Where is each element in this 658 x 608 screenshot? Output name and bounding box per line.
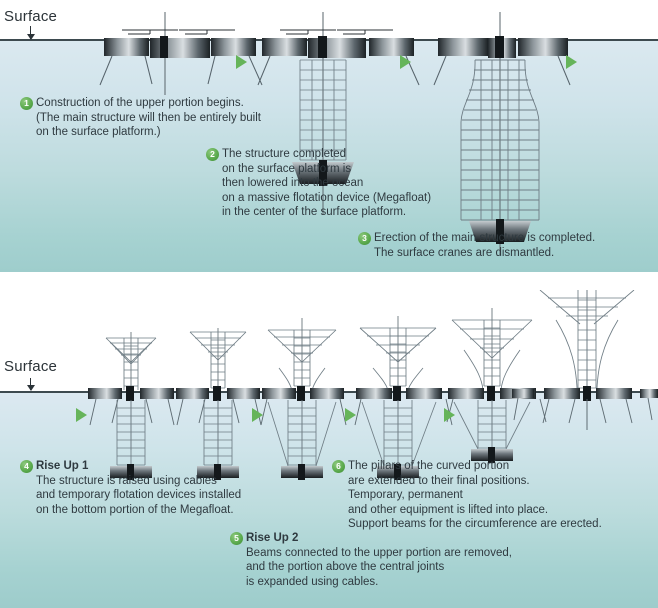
step-6-line-3: Temporary, permanent: [348, 489, 463, 501]
step-4-title: Rise Up 1: [36, 460, 88, 472]
flow-arrow-7: [444, 408, 455, 422]
step-badge-4: 4: [20, 460, 33, 473]
step-2-line-1: The structure completed: [222, 148, 346, 160]
step-2-line-2: on the surface platform is: [222, 163, 351, 175]
step-6-line-2: are extended to their final positions.: [348, 475, 530, 487]
step-badge-6: 6: [332, 460, 345, 473]
step-4-line-1: The structure is raised using cables: [36, 475, 217, 487]
step-badge-5: 5: [230, 532, 243, 545]
step-5-line-1: Beams connected to the upper portion are…: [246, 547, 512, 559]
stage-4-structure: [88, 332, 174, 480]
step-2-line-5: in the center of the surface platform.: [222, 206, 406, 218]
stage-6a-structure: [261, 318, 346, 480]
step-3-line-1: Erection of the main structure is comple…: [374, 232, 595, 244]
step-2-line-3: then lowered into the ocean: [222, 177, 363, 189]
step-6-line-5: Support beams for the circumference are …: [348, 518, 602, 530]
step-caption-4: Rise Up 1 The structure is raised using …: [36, 459, 241, 517]
step-badge-1: 1: [20, 97, 33, 110]
step-caption-6: The pillars of the curved portion are ex…: [348, 459, 602, 532]
stage-6d-structure: [512, 290, 658, 430]
stage-6c-structure: [447, 308, 546, 463]
flow-arrow-2: [400, 55, 411, 69]
diagram-panel-bottom: Surface: [0, 290, 658, 608]
step-caption-1: Construction of the upper portion begins…: [36, 96, 261, 140]
step-caption-2: The structure completed on the surface p…: [222, 147, 431, 220]
step-badge-3: 3: [358, 232, 371, 245]
diagram-panel-top: Surface: [0, 0, 658, 272]
step-4-line-3: on the bottom portion of the Megafloat.: [36, 504, 234, 516]
step-4-line-2: and temporary flotation devices installe…: [36, 489, 241, 501]
step-badge-2: 2: [206, 148, 219, 161]
flow-arrow-4: [76, 408, 87, 422]
step-caption-5: Rise Up 2 Beams connected to the upper p…: [246, 531, 512, 589]
step-5-line-3: is expanded using cables.: [246, 576, 378, 588]
step-6-line-1: The pillars of the curved portion: [348, 460, 509, 472]
step-caption-3: Erection of the main structure is comple…: [374, 231, 595, 260]
step-1-line-2: (The main structure will then be entirel…: [36, 112, 261, 124]
step-5-line-2: and the portion above the central joints: [246, 561, 444, 573]
stage-3-structure: [434, 12, 570, 255]
flow-arrow-1: [236, 55, 247, 69]
stage-1-structure: [100, 12, 262, 95]
step-6-line-4: and other equipment is lifted into place…: [348, 504, 548, 516]
stage-6b-structure: [355, 316, 452, 480]
flow-arrow-6: [345, 408, 356, 422]
stage-5-structure: [176, 328, 261, 480]
flow-arrow-5: [252, 408, 263, 422]
flow-arrow-3: [566, 55, 577, 69]
step-1-line-1: Construction of the upper portion begins…: [36, 97, 244, 109]
step-3-line-2: The surface cranes are dismantled.: [374, 247, 554, 259]
step-5-title: Rise Up 2: [246, 532, 298, 544]
step-1-line-3: on the surface platform.): [36, 126, 161, 138]
step-2-line-4: on a massive flotation device (Megafloat…: [222, 192, 431, 204]
